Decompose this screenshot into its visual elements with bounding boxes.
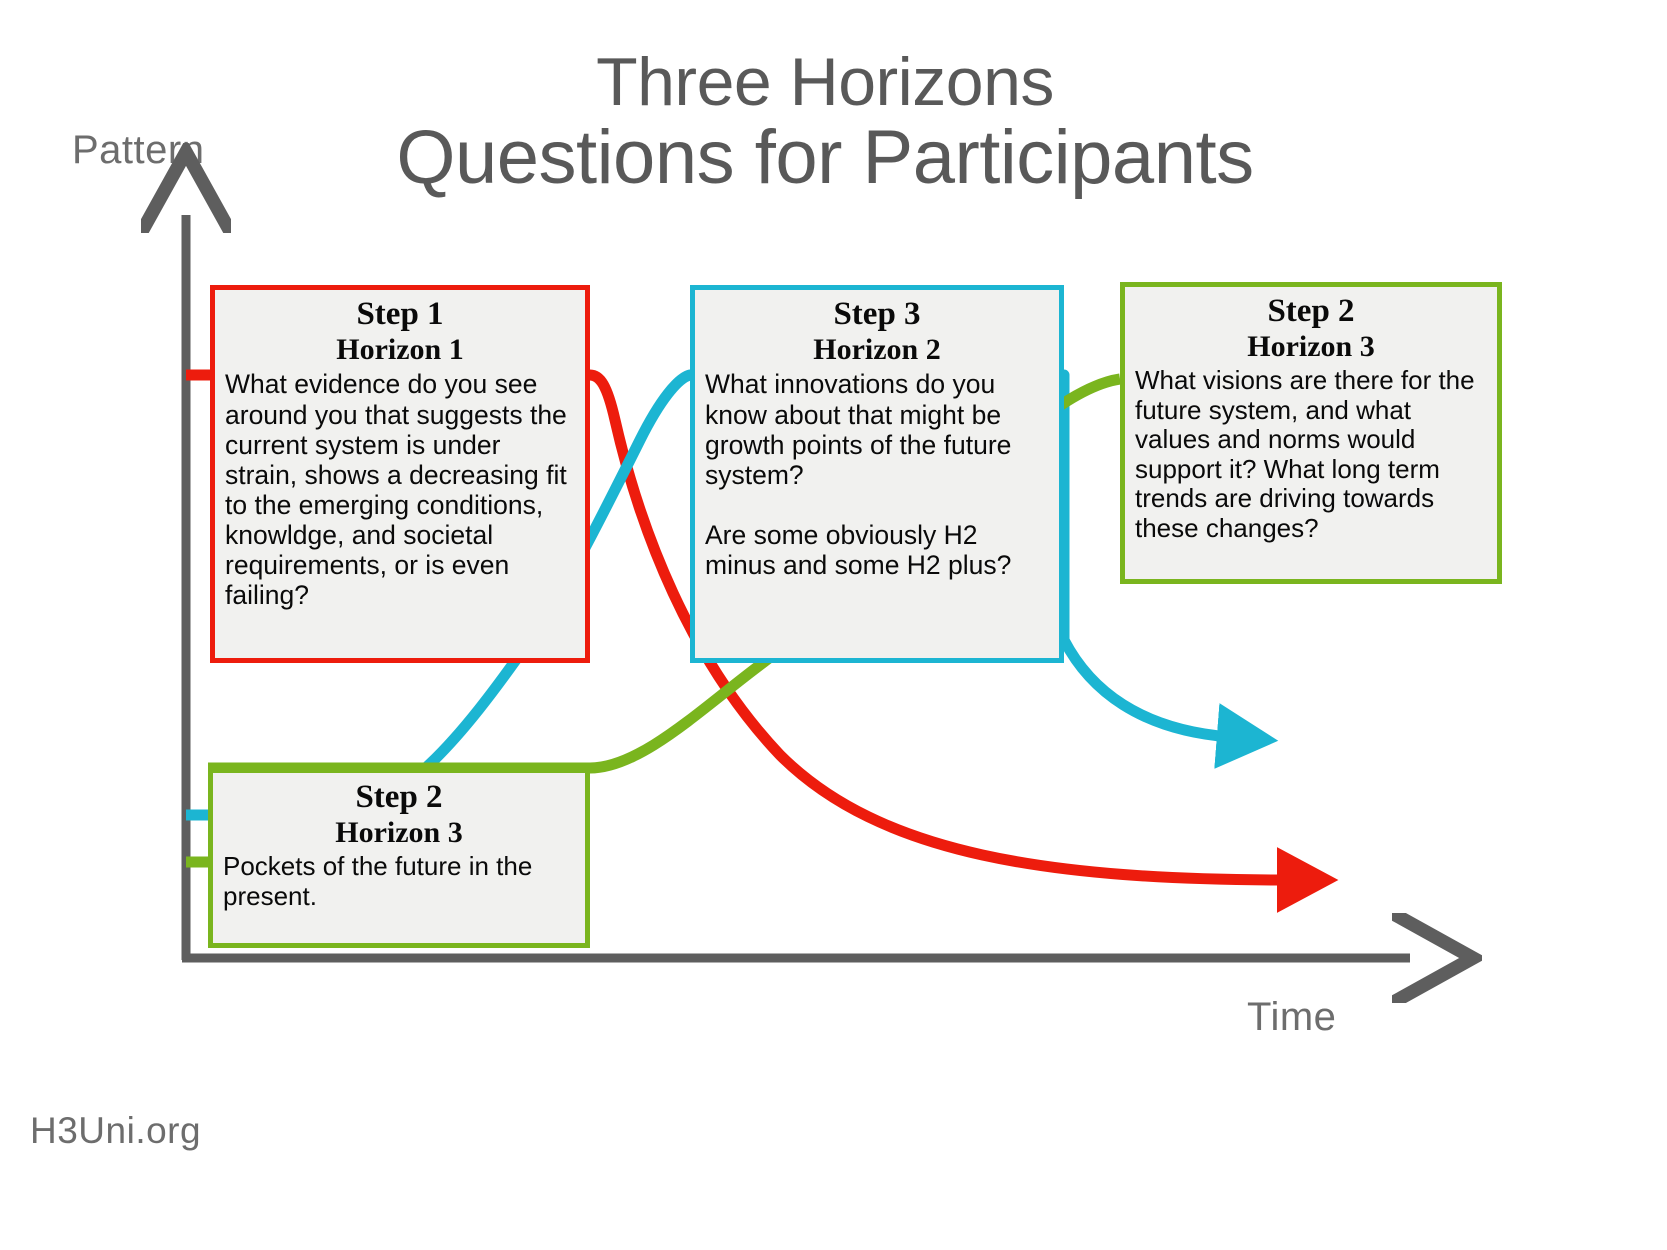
box-body-text: Pockets of the future in the present. [223, 852, 575, 911]
box-step-1-horizon-1[interactable]: Step 1 Horizon 1 What evidence do you se… [210, 285, 590, 663]
step-label: Step 2 [1135, 293, 1487, 330]
step-label: Step 2 [223, 779, 575, 816]
horizon-label: Horizon 3 [1135, 330, 1487, 365]
box-body-text: What evidence do you see around you that… [225, 369, 575, 610]
box-body-text: What innovations do you know about that … [705, 369, 1049, 579]
box-body-text: What visions are there for the future sy… [1135, 366, 1487, 543]
box-step-2-horizon-3-left[interactable]: Step 2 Horizon 3 Pockets of the future i… [208, 768, 590, 948]
horizon-label: Horizon 1 [225, 333, 575, 368]
step-label: Step 3 [705, 296, 1049, 333]
three-horizons-diagram: Three Horizons Questions for Participant… [0, 0, 1667, 1250]
box-step-2-horizon-3-right[interactable]: Step 2 Horizon 3 What visions are there … [1120, 282, 1502, 584]
step-label: Step 1 [225, 296, 575, 333]
horizon-label: Horizon 3 [223, 816, 575, 851]
horizon-label: Horizon 2 [705, 333, 1049, 368]
box-step-3-horizon-2[interactable]: Step 3 Horizon 2 What innovations do you… [690, 285, 1064, 663]
